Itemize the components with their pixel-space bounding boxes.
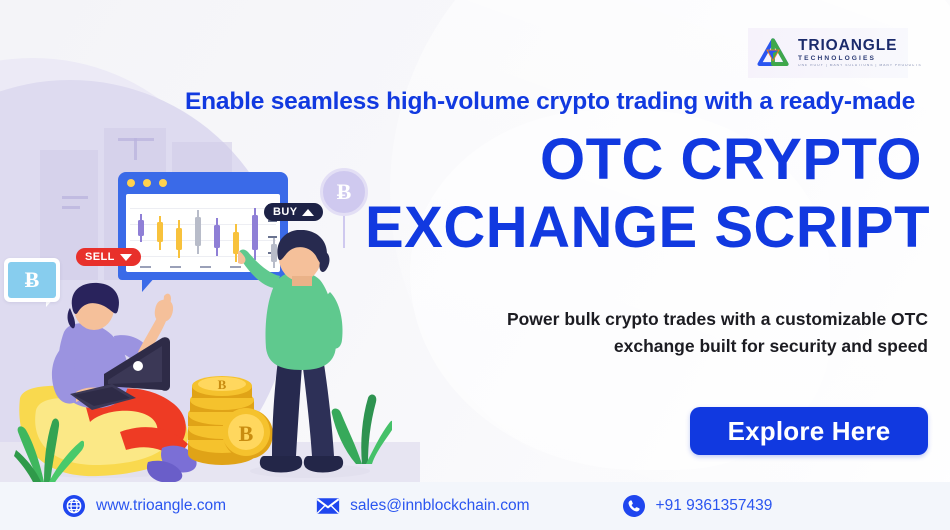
footer-email[interactable]: sales@innblockchain.com xyxy=(316,494,529,518)
promotional-banner: TRIOANGLE TECHNOLOGIES ONE ROOF | MANY S… xyxy=(0,0,950,530)
bitcoin-circle-icon: Ƀ xyxy=(320,168,368,216)
candlestick-body xyxy=(176,228,182,250)
candlestick-body xyxy=(195,217,201,246)
hero-title-line2: EXCHANGE SCRIPT xyxy=(365,194,930,261)
logo-tagline: ONE ROOF | MANY SOLUTIONS | MANY PRODUCT… xyxy=(798,64,922,67)
triangle-up-icon xyxy=(302,209,314,216)
brand-logo[interactable]: TRIOANGLE TECHNOLOGIES ONE ROOF | MANY S… xyxy=(748,28,908,78)
hero-title-line1: OTC CRYPTO xyxy=(540,126,922,193)
hero-subtitle-line2: exchange built for security and speed xyxy=(348,333,928,360)
background-detail-bar-d xyxy=(134,138,137,160)
window-dot-3 xyxy=(159,179,167,187)
footer-contact-bar: www.trioangle.com sales@innblockchain.co… xyxy=(0,482,950,530)
chart-x-tick xyxy=(140,266,151,268)
chart-x-tick xyxy=(170,266,181,268)
window-control-dots xyxy=(127,179,167,187)
candlestick-body xyxy=(214,225,220,248)
window-dot-2 xyxy=(143,179,151,187)
candlestick-body xyxy=(138,220,144,236)
svg-text:B: B xyxy=(218,377,227,392)
window-dot-1 xyxy=(127,179,135,187)
candlestick-body xyxy=(157,222,163,242)
buy-badge[interactable]: BUY xyxy=(264,203,323,221)
footer-phone-label: +91 9361357439 xyxy=(656,497,773,515)
footer-phone[interactable]: +91 9361357439 xyxy=(622,494,773,518)
sell-badge[interactable]: SELL xyxy=(76,248,141,266)
footer-website[interactable]: www.trioangle.com xyxy=(62,494,226,518)
footer-email-label: sales@innblockchain.com xyxy=(350,497,529,515)
globe-icon xyxy=(62,494,86,518)
plant-right-illustration xyxy=(330,380,392,466)
envelope-icon xyxy=(316,494,340,518)
phone-icon xyxy=(622,494,646,518)
chart-x-tick xyxy=(200,266,211,268)
triangle-down-icon xyxy=(120,254,132,261)
explore-here-button[interactable]: Explore Here xyxy=(690,407,928,455)
buy-badge-label: BUY xyxy=(273,206,297,218)
background-detail-bar-a xyxy=(62,196,88,199)
plant-left-illustration xyxy=(14,396,84,486)
background-detail-bar-b xyxy=(62,206,80,209)
sell-badge-label: SELL xyxy=(85,251,115,263)
logo-subtitle: TECHNOLOGIES xyxy=(798,56,922,63)
footer-website-label: www.trioangle.com xyxy=(96,497,226,515)
hero-subtitle-line1: Power bulk crypto trades with a customiz… xyxy=(348,306,928,333)
hero-subtitle: Power bulk crypto trades with a customiz… xyxy=(348,306,928,360)
triangle-logo-icon xyxy=(756,36,790,70)
hero-eyebrow: Enable seamless high-volume crypto tradi… xyxy=(160,88,940,116)
logo-name: TRIOANGLE xyxy=(798,38,922,54)
